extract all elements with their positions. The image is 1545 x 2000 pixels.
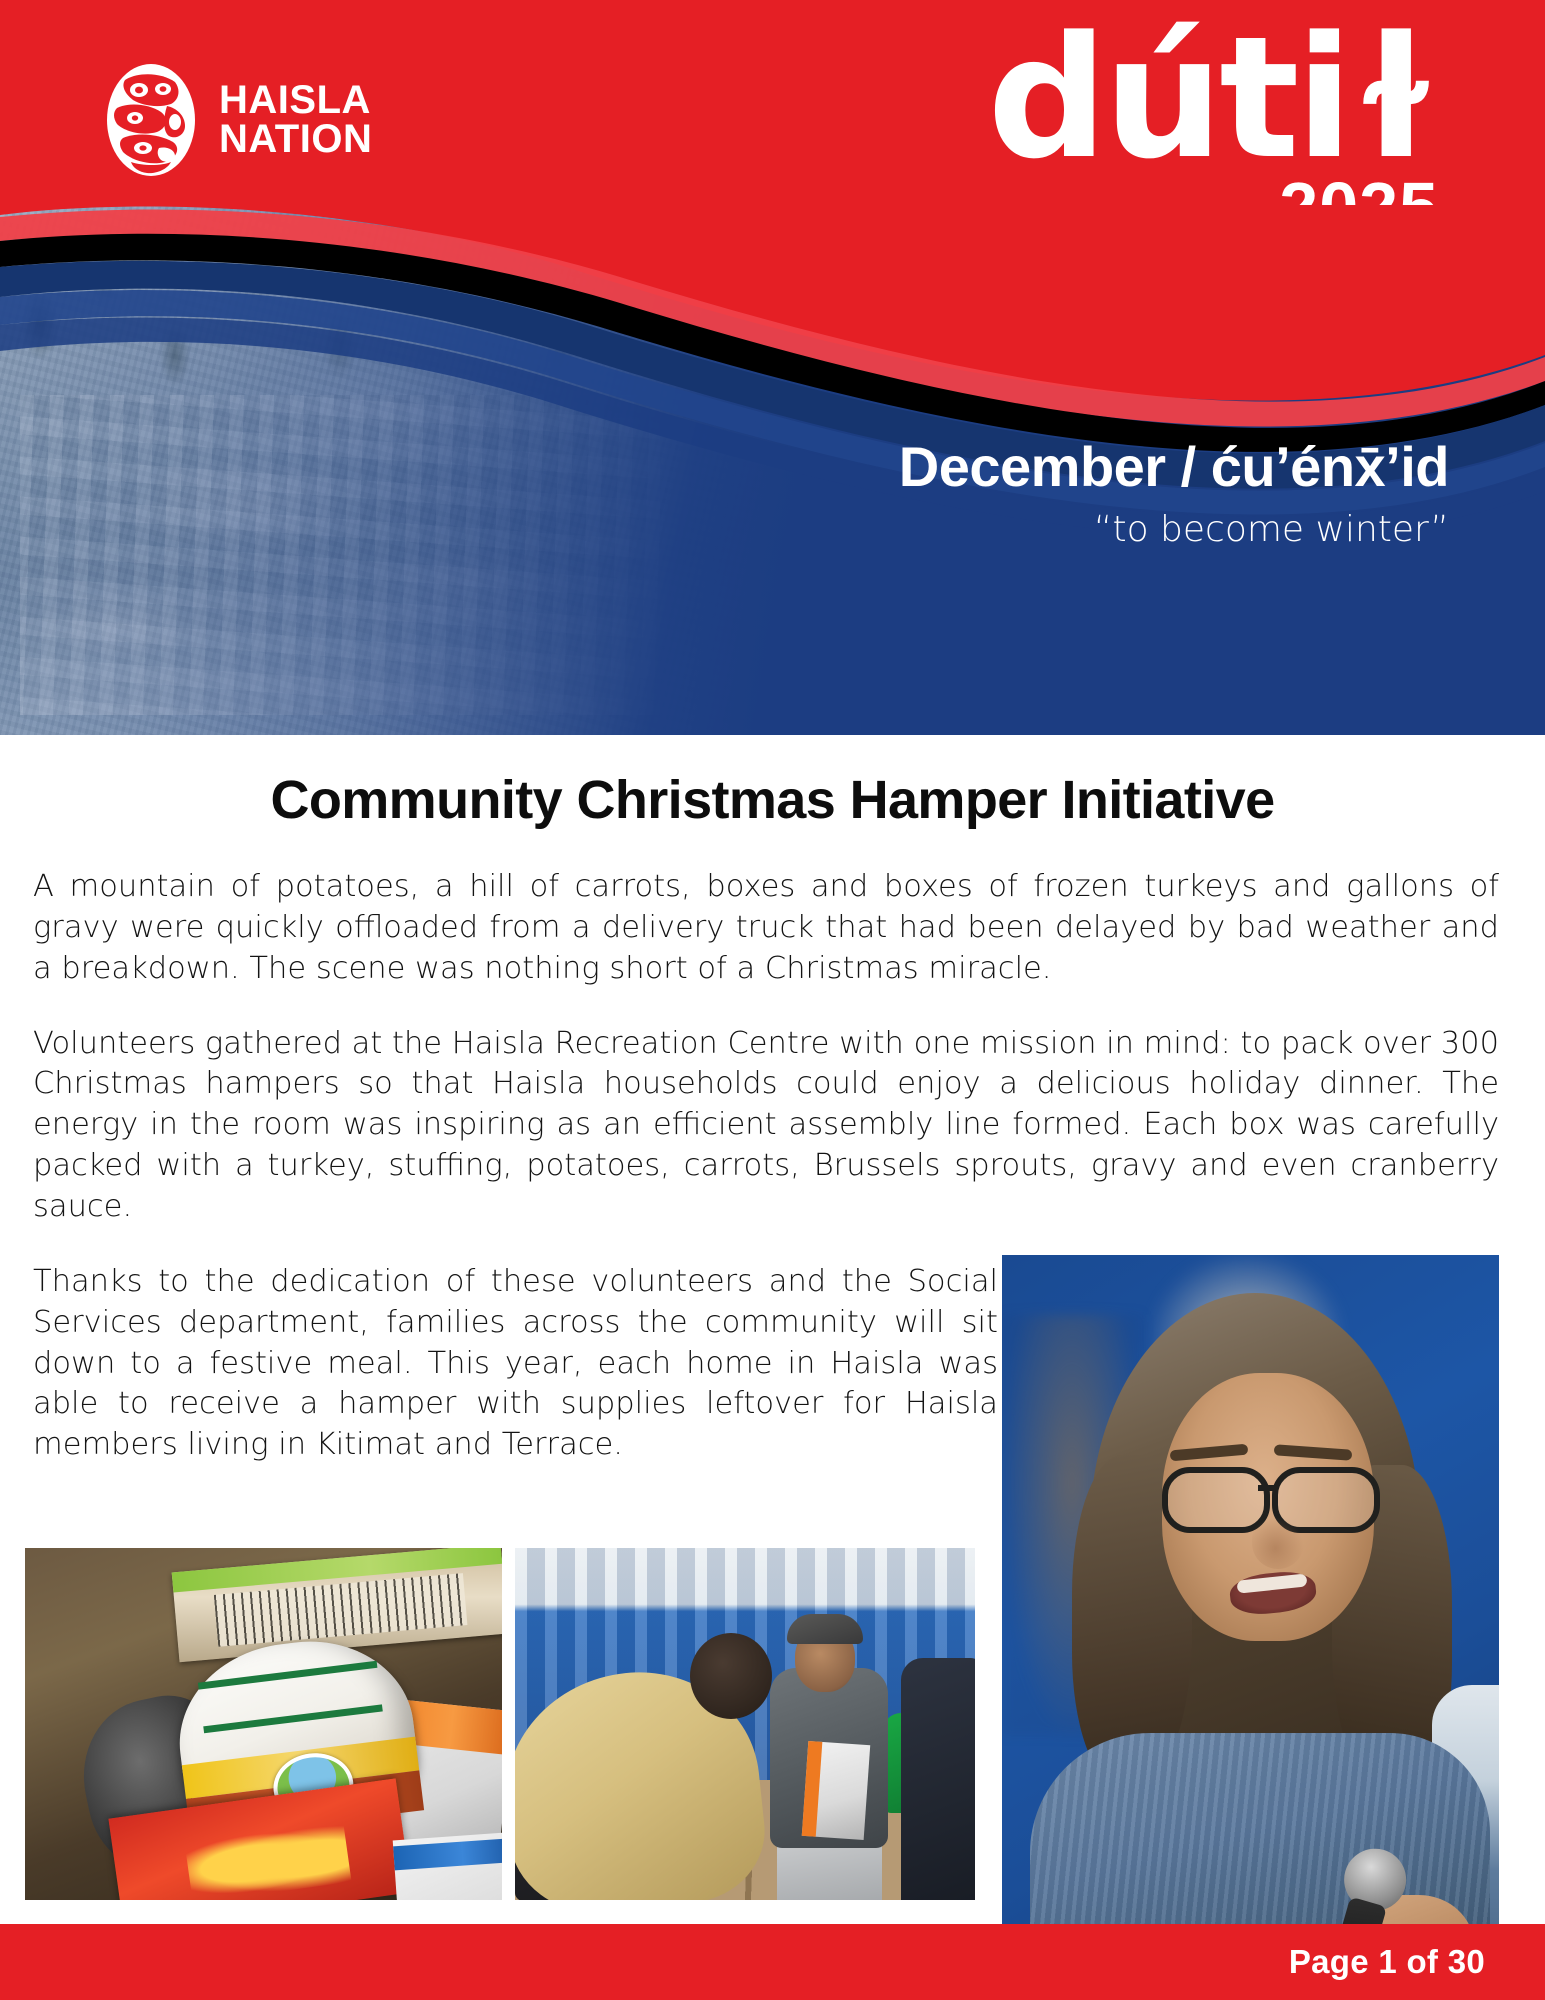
hamper-contents-photo: [25, 1548, 502, 1900]
woman-speaking-microphone-photo: [1002, 1255, 1499, 2000]
logo-line-2: NATION: [219, 120, 372, 159]
article-paragraph: Thanks to the dedication of these volunt…: [33, 1262, 998, 1466]
hero-section: December / ću’énx̄’id “to become winter”: [0, 205, 1545, 735]
haisla-nation-wordmark: HAISLA NATION: [219, 81, 372, 159]
hero-month-translation: “to become winter”: [549, 507, 1449, 554]
eyeglasses-detail: [1154, 1467, 1386, 1521]
article-paragraph: Volunteers gathered at the Haisla Recrea…: [33, 1024, 1499, 1228]
article-headline: Community Christmas Hamper Initiative: [0, 769, 1545, 831]
newsletter-page: HAISLA NATION dútiɫ 2025: [0, 0, 1545, 2000]
volunteers-packing-photo: [515, 1548, 975, 1900]
haisla-formline-oval-logo-icon: [105, 62, 197, 178]
article-paragraph: A mountain of potatoes, a hill of carrot…: [33, 867, 1499, 990]
logo-line-1: HAISLA: [219, 81, 372, 120]
hero-month-block: December / ću’énx̄’id “to become winter”: [549, 437, 1449, 554]
page-footer: Page 1 of 30: [0, 1924, 1545, 2000]
hero-month-title: December / ću’énx̄’id: [549, 437, 1449, 497]
haisla-nation-logo: HAISLA NATION: [105, 62, 372, 178]
page-number-label: Page 1 of 30: [1289, 1943, 1485, 1981]
newsletter-title: dútiɫ: [987, 26, 1439, 170]
